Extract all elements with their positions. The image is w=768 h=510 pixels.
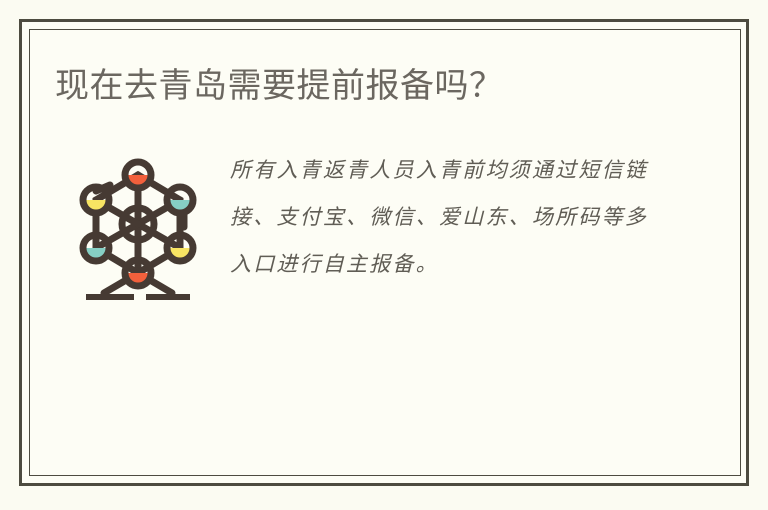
ferris-wheel-graphic [74,153,202,301]
poster-page: 现在去青岛需要提前报备吗？ [0,0,768,510]
body-paragraph: 所有入青返青人员入青前均须通过短信链接、支付宝、微信、爱山东、场所码等多入口进行… [230,147,648,288]
ferris-wheel-icon [74,153,202,301]
page-title: 现在去青岛需要提前报备吗？ [55,65,504,107]
card-content: 现在去青岛需要提前报备吗？ [29,29,741,476]
